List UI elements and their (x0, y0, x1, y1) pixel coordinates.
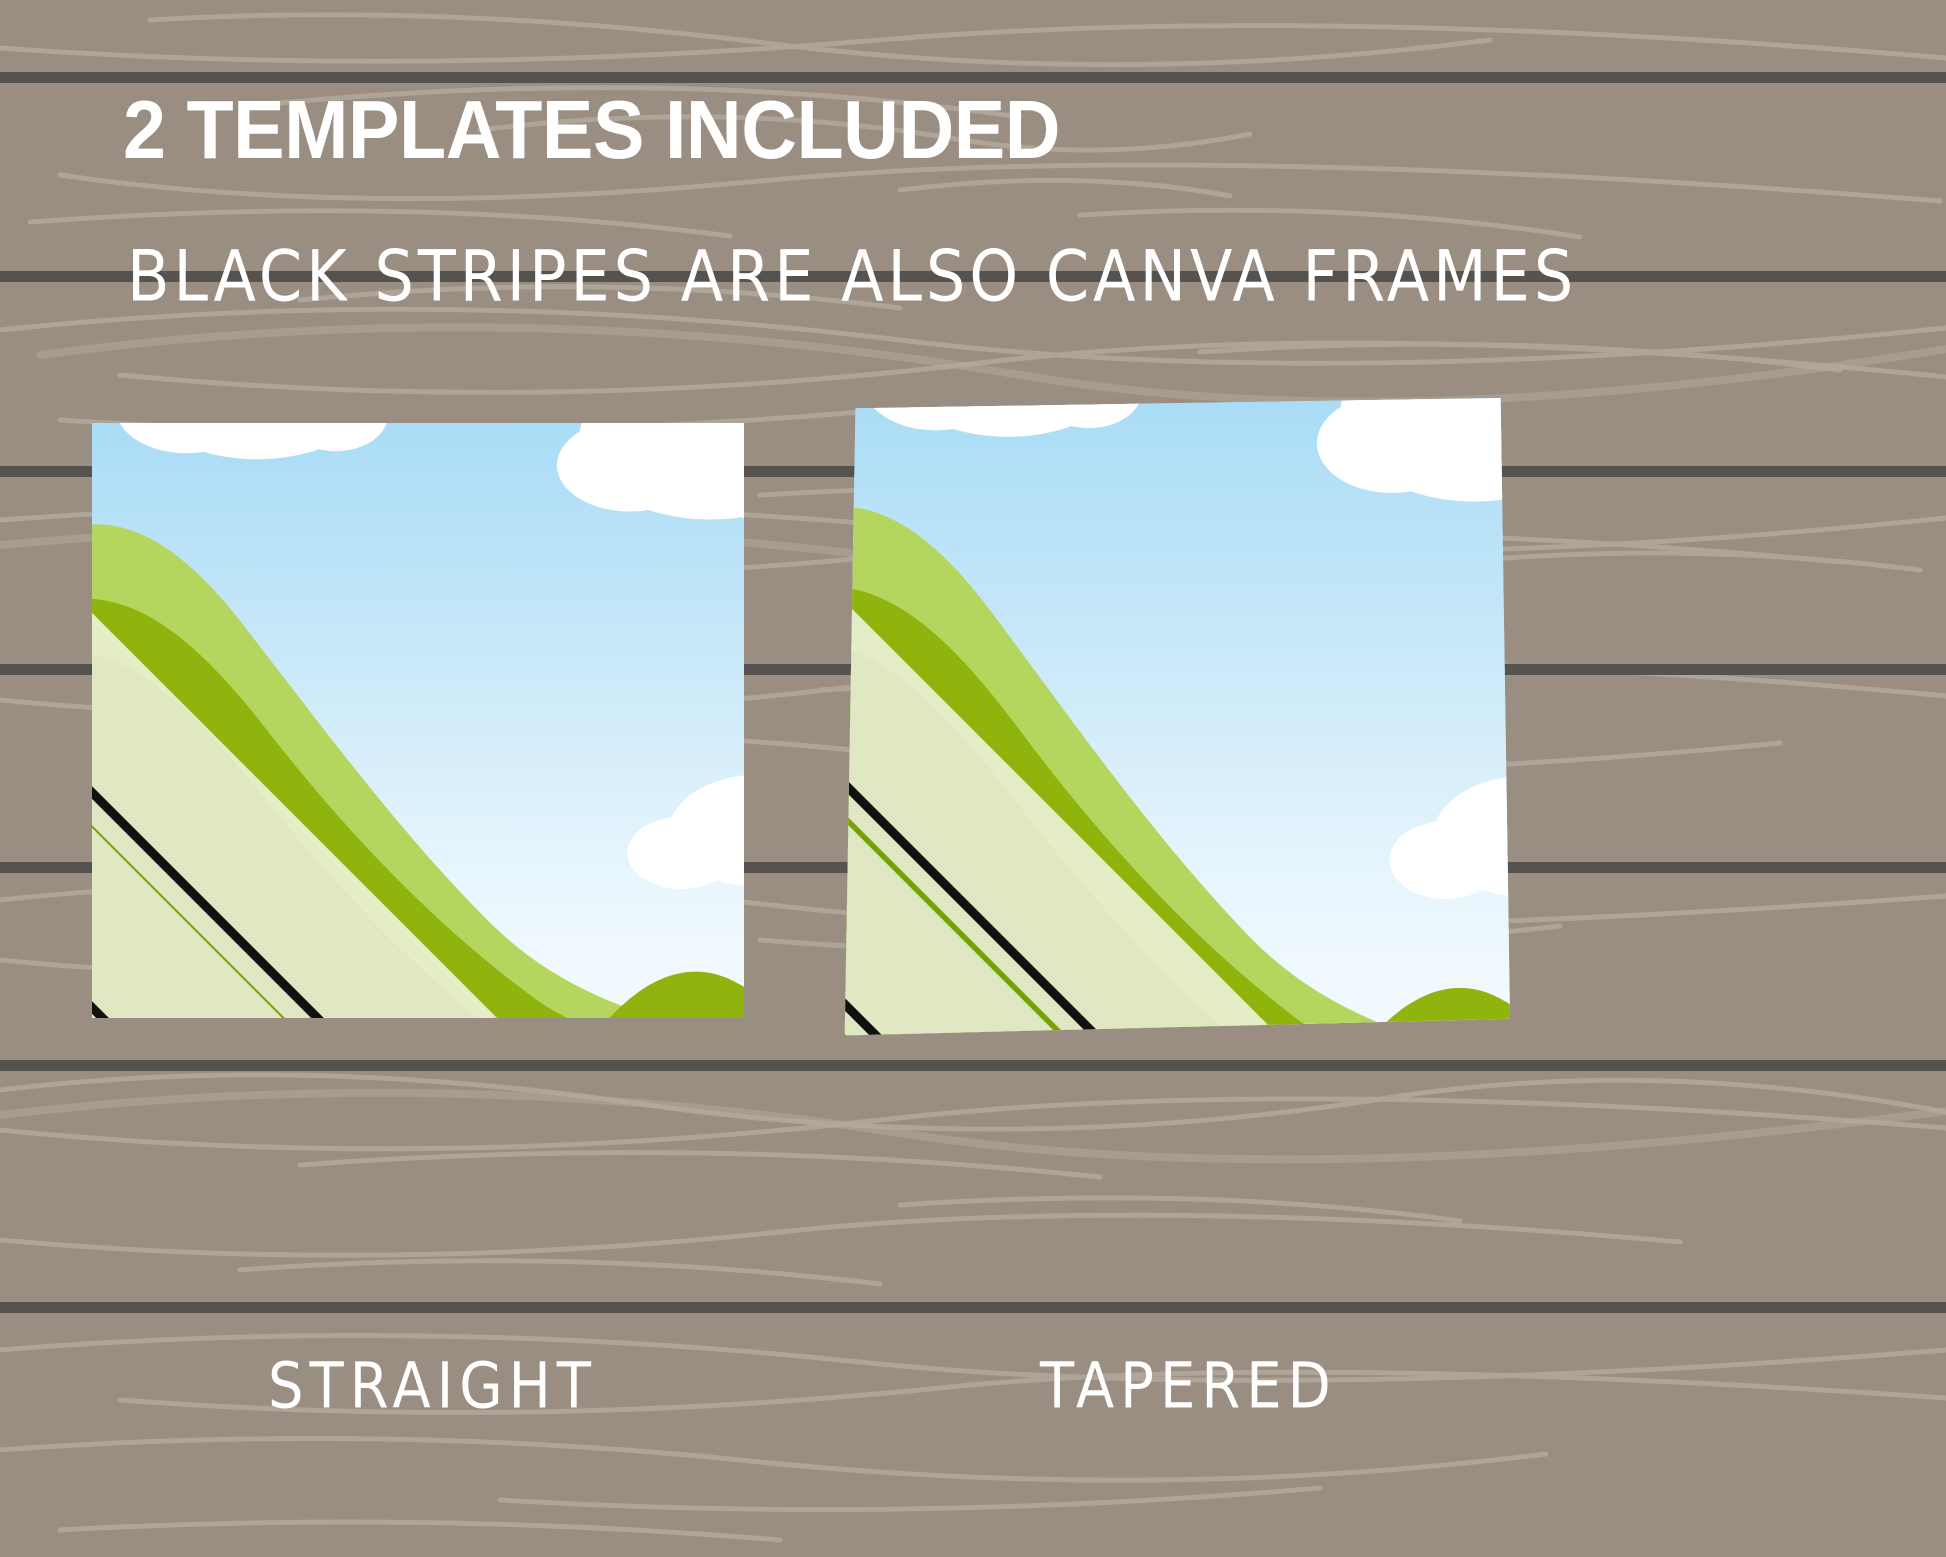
landscape-scene (92, 423, 744, 1018)
template-preview-straight[interactable] (92, 423, 744, 1018)
page-subtitle: BLACK STRIPES ARE ALSO CANVA FRAMES (127, 235, 1577, 317)
scene-artwork (838, 398, 1510, 1038)
page-title: 2 TEMPLATES INCLUDED (123, 88, 1060, 171)
template-preview-tapered[interactable] (838, 398, 1510, 1038)
plank-divider (0, 1302, 1946, 1313)
caption-straight: STRAIGHT (268, 1350, 597, 1423)
landscape-scene (838, 398, 1510, 1038)
scene-artwork (92, 423, 744, 1018)
plank-divider (0, 72, 1946, 83)
plank-divider (0, 1060, 1946, 1071)
poster-canvas: 2 TEMPLATES INCLUDED BLACK STRIPES ARE A… (0, 0, 1946, 1557)
caption-tapered: TAPERED (1040, 1350, 1337, 1423)
